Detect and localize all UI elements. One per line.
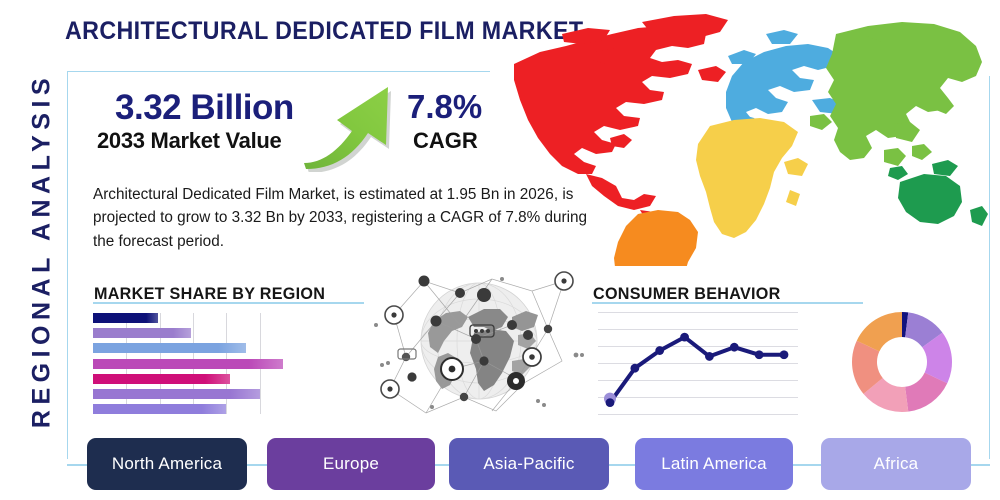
market-value-label: 2033 Market Value xyxy=(97,128,281,154)
bar-row xyxy=(93,389,289,399)
line-marker xyxy=(655,346,664,355)
line-marker xyxy=(730,343,739,352)
cagr-label: CAGR xyxy=(413,128,478,154)
line-marker xyxy=(606,398,615,407)
bar xyxy=(93,328,191,338)
bar xyxy=(93,404,226,414)
consumer-behavior-line-chart xyxy=(598,312,798,416)
bar xyxy=(93,389,260,399)
line-marker xyxy=(630,364,639,373)
bar-row xyxy=(93,374,289,384)
consumer-behavior-rule xyxy=(592,302,863,304)
map-region-south-america xyxy=(614,210,698,266)
market-share-bar-chart xyxy=(93,313,289,414)
region-tab-label: Europe xyxy=(323,454,379,474)
map-region-oceania xyxy=(888,160,988,226)
bar-row xyxy=(93,328,289,338)
bar xyxy=(93,359,283,369)
region-tab-europe[interactable]: Europe xyxy=(267,438,435,490)
world-map-icon xyxy=(492,4,992,266)
bar xyxy=(93,343,246,353)
consumer-behavior-heading: CONSUMER BEHAVIOR xyxy=(593,284,781,304)
map-region-asia xyxy=(810,22,982,166)
bar xyxy=(93,313,158,323)
map-region-africa xyxy=(696,118,808,238)
donut-chart-icon xyxy=(848,308,956,416)
region-tab-north-america[interactable]: North America xyxy=(87,438,247,490)
global-network-globe-icon xyxy=(372,265,587,423)
line-marker xyxy=(755,350,764,359)
bar-row xyxy=(93,404,289,414)
region-tab-label: Latin America xyxy=(661,454,767,474)
region-tab-label: North America xyxy=(112,454,222,474)
bar-row xyxy=(93,343,289,353)
regional-analysis-side-label: REGIONAL ANALYSIS xyxy=(28,41,57,461)
bar-row xyxy=(93,359,289,369)
region-tab-africa[interactable]: Africa xyxy=(821,438,971,490)
line-marker xyxy=(780,350,789,359)
growth-arrow-icon xyxy=(300,82,410,172)
region-tab-asia-pacific[interactable]: Asia-Pacific xyxy=(449,438,609,490)
region-tab-latin-america[interactable]: Latin America xyxy=(635,438,793,490)
line-marker xyxy=(680,333,689,342)
map-region-north-america xyxy=(514,14,728,224)
market-share-heading: MARKET SHARE BY REGION xyxy=(94,284,325,304)
bar-row xyxy=(93,313,289,323)
line-marker xyxy=(705,352,714,361)
bar xyxy=(93,374,230,384)
market-share-rule xyxy=(93,302,364,304)
cagr-number: 7.8% xyxy=(407,88,482,126)
region-tab-label: Asia-Pacific xyxy=(483,454,574,474)
region-tab-label: Africa xyxy=(874,454,919,474)
market-value-number: 3.32 Billion xyxy=(115,88,294,128)
infographic-root: REGIONAL ANALYSIS ARCHITECTURAL DEDICATE… xyxy=(0,0,1000,500)
